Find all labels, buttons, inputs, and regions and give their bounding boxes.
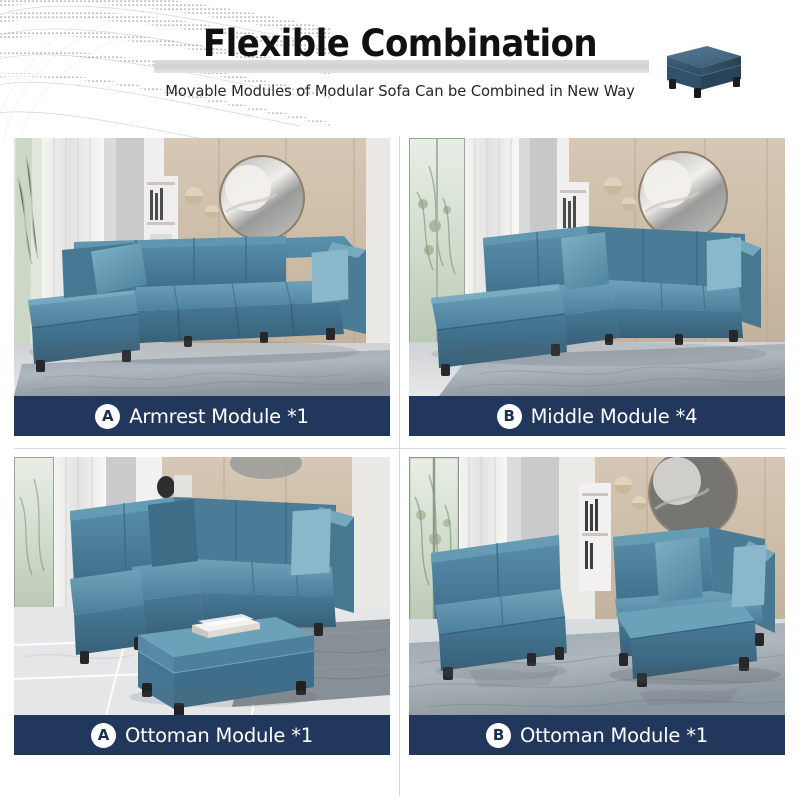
module-label-bar: B Ottoman Module *1 <box>409 715 785 755</box>
panel-ottoman-a[interactable]: A Ottoman Module *1 <box>14 457 390 757</box>
product-photo-ottoman-b <box>409 457 785 715</box>
module-label: Ottoman Module *1 <box>125 724 313 747</box>
grid-divider-horizontal <box>14 448 786 449</box>
header: Flexible Combination Movable Modules of … <box>0 0 800 132</box>
module-label: Middle Module *4 <box>531 405 698 428</box>
panel-armrest[interactable]: A Armrest Module *1 <box>14 138 390 438</box>
module-label-bar: B Middle Module *4 <box>409 396 785 436</box>
grid-divider-vertical <box>399 136 400 796</box>
module-badge: A <box>95 404 120 429</box>
module-label-bar: A Ottoman Module *1 <box>14 715 390 755</box>
panel-middle[interactable]: B Middle Module *4 <box>409 138 785 438</box>
module-badge: B <box>497 404 522 429</box>
module-grid: A Armrest Module *1 <box>0 132 800 800</box>
title-group: Flexible Combination <box>150 22 650 74</box>
ottoman-cube-icon <box>645 34 750 106</box>
product-photo-ottoman-a <box>14 457 390 715</box>
page-title: Flexible Combination <box>170 22 630 66</box>
product-photo-middle <box>409 138 785 396</box>
module-label: Ottoman Module *1 <box>520 724 708 747</box>
module-label-bar: A Armrest Module *1 <box>14 396 390 436</box>
module-label: Armrest Module *1 <box>129 405 308 428</box>
module-badge: A <box>91 723 116 748</box>
panel-ottoman-b[interactable]: B Ottoman Module *1 <box>409 457 785 757</box>
module-badge: B <box>486 723 511 748</box>
page-subtitle: Movable Modules of Modular Sofa Can be C… <box>115 82 685 100</box>
product-photo-armrest <box>14 138 390 396</box>
